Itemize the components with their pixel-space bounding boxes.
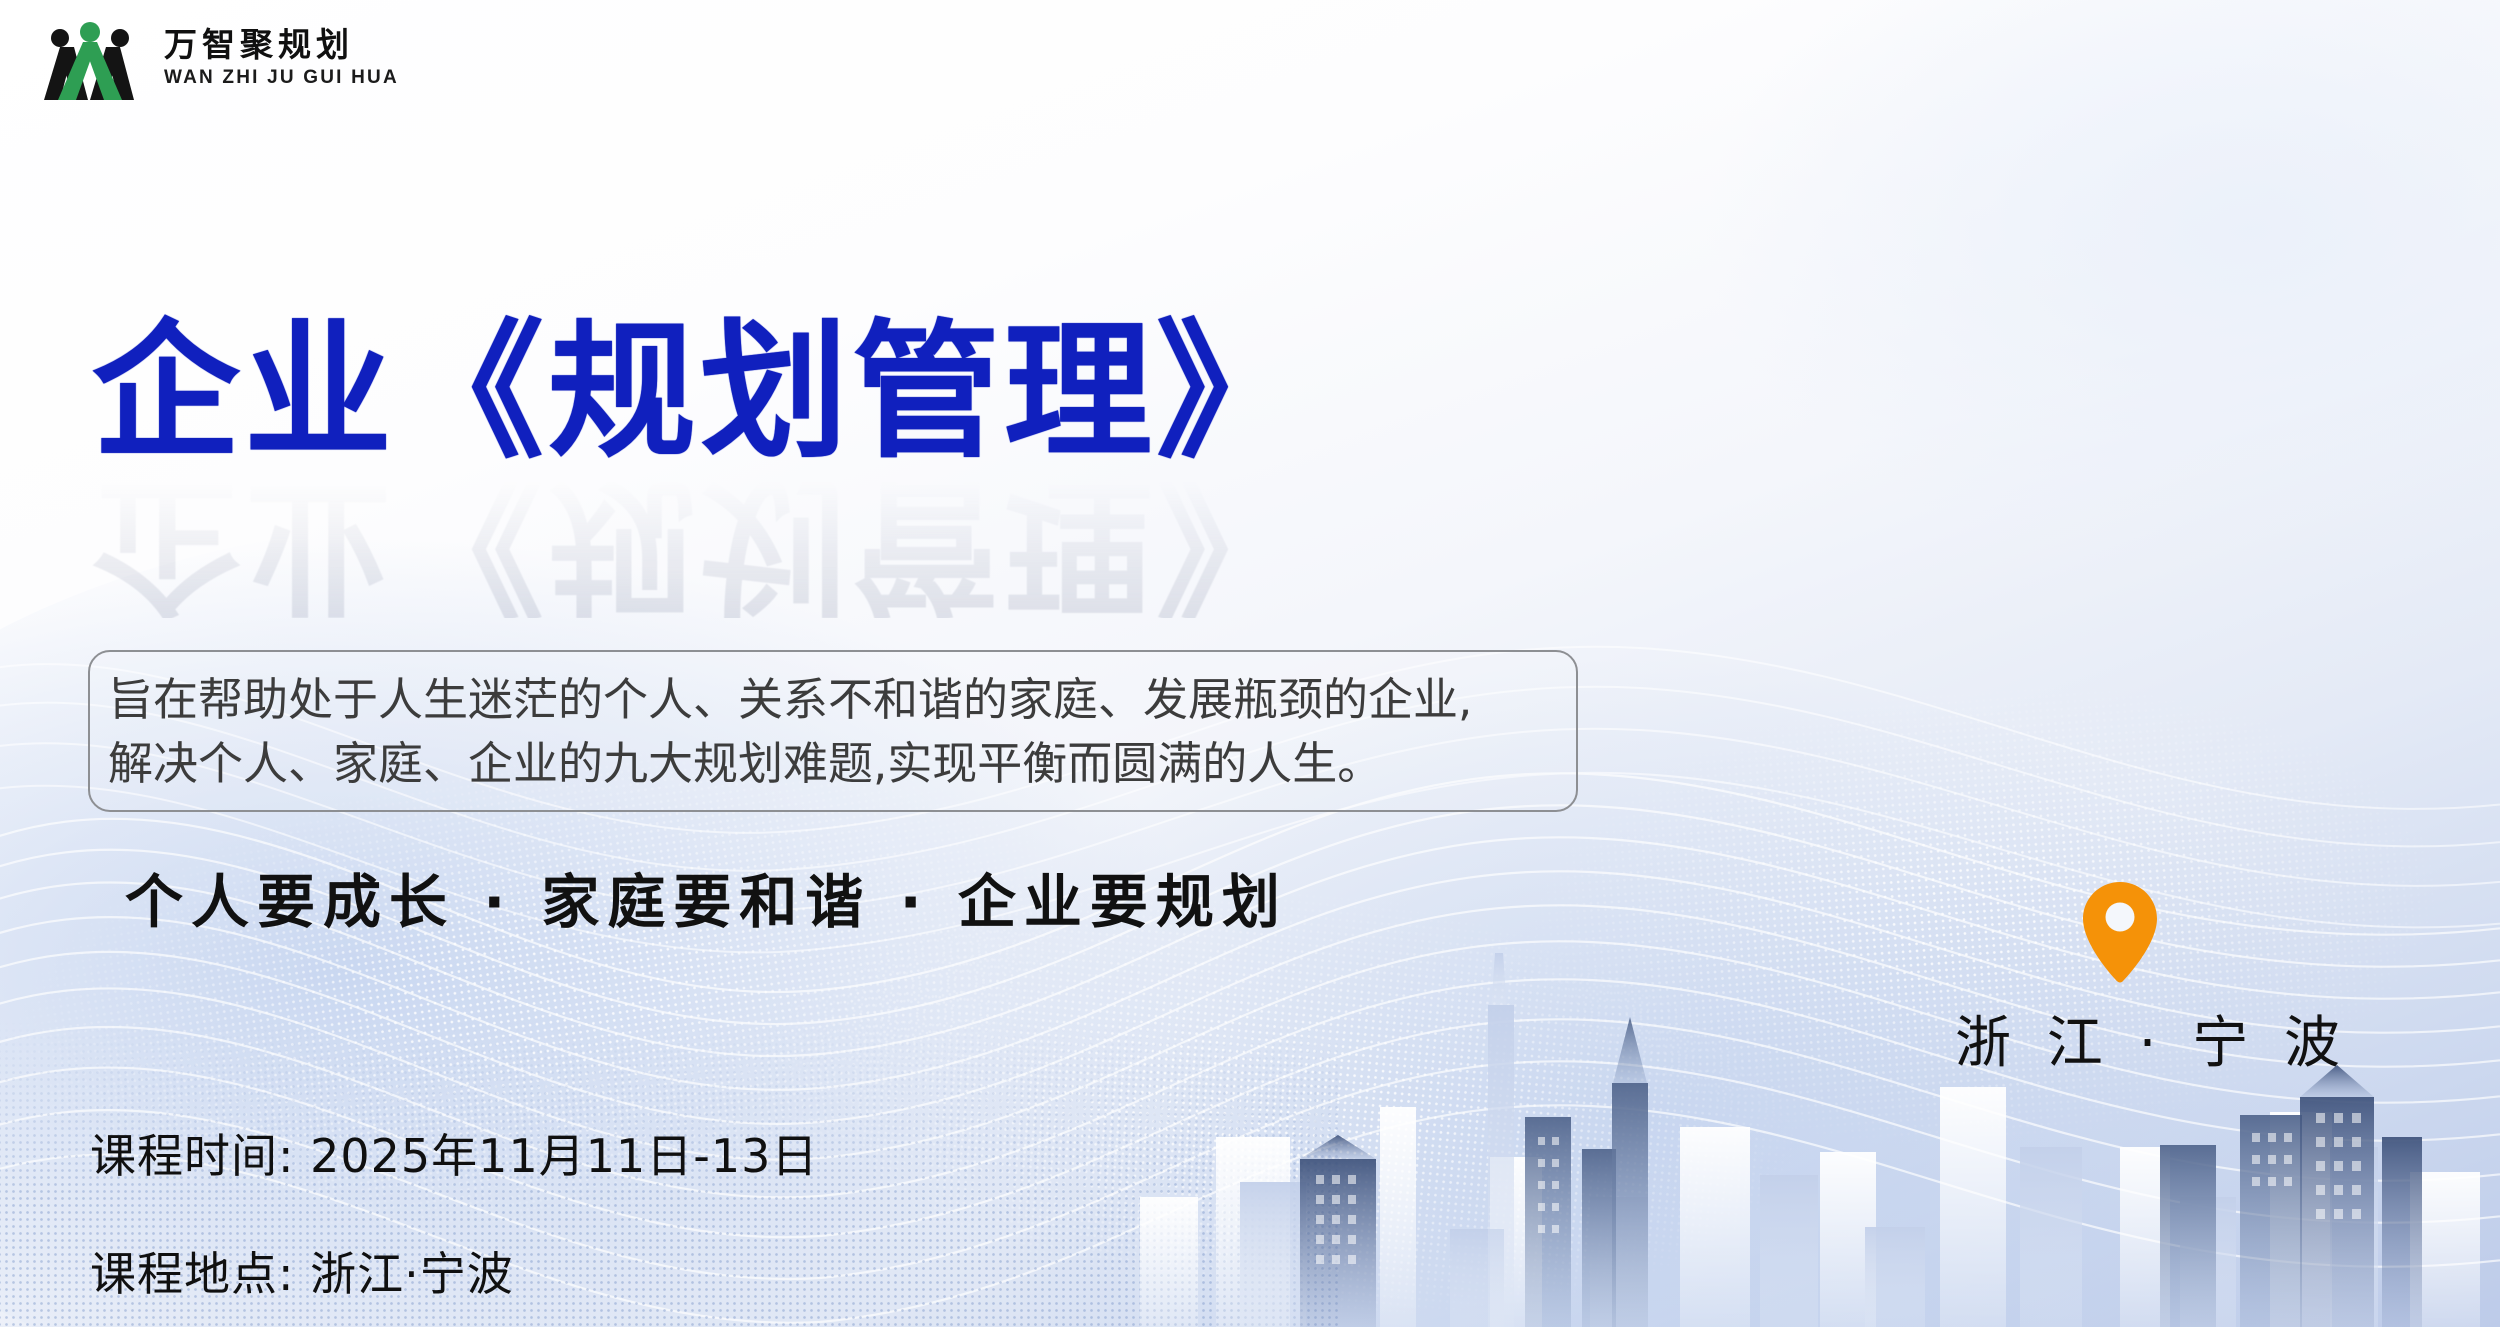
city-skyline-illustration bbox=[1120, 897, 2500, 1327]
hero-title-block: 企业《规划管理》 企业《规划管理》 bbox=[92, 318, 1308, 618]
course-time: 课程时间: 2025年11月11日-13日 bbox=[90, 1120, 818, 1186]
page-title: 企业《规划管理》 bbox=[92, 318, 1308, 466]
description-box: 旨在帮助处于人生迷茫的个人、关系不和谐的家庭、发展瓶颈的企业, 解决个人、家庭、… bbox=[88, 650, 1578, 812]
three-people-m-logo-icon bbox=[30, 14, 150, 100]
brand-name-cn: 万智聚规划 bbox=[164, 28, 399, 61]
description-line-1: 旨在帮助处于人生迷茫的个人、关系不和谐的家庭、发展瓶颈的企业, bbox=[108, 668, 1558, 732]
poster-canvas: 万智聚规划 WAN ZHI JU GUI HUA 企业《规划管理》 企业《规划管… bbox=[0, 0, 2500, 1327]
course-meta: 课程时间: 2025年11月11日-13日 课程地点: 浙江·宁波 bbox=[90, 1120, 818, 1304]
brand-text: 万智聚规划 WAN ZHI JU GUI HUA bbox=[164, 28, 399, 87]
brand-logo: 万智聚规划 WAN ZHI JU GUI HUA bbox=[30, 14, 399, 100]
page-title-reflection: 企业《规划管理》 bbox=[92, 470, 1308, 618]
location-badge: 浙 江 · 宁 波 bbox=[1955, 880, 2285, 1079]
hero-tagline: 个人要成长 · 家庭要和谐 · 企业要规划 bbox=[125, 855, 1288, 939]
brand-name-en: WAN ZHI JU GUI HUA bbox=[164, 68, 399, 87]
location-name: 浙 江 · 宁 波 bbox=[1955, 998, 2285, 1079]
course-place: 课程地点: 浙江·宁波 bbox=[90, 1238, 818, 1304]
background-glow-top-right bbox=[1700, 0, 2500, 580]
description-line-2: 解决个人、家庭、企业的九大规划难题,实现平衡而圆满的人生。 bbox=[108, 732, 1558, 796]
map-pin-icon bbox=[2079, 880, 2161, 984]
